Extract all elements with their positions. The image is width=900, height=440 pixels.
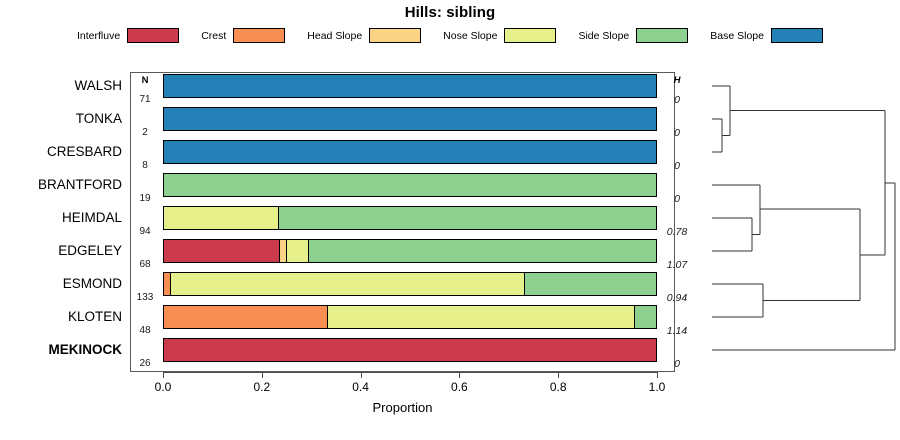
row-label-mekinock[interactable]: MEKINOCK <box>0 343 122 357</box>
x-axis-tick-label: 0.0 <box>143 380 183 394</box>
n-value: 133 <box>131 292 159 303</box>
row-label-cresbard[interactable]: CRESBARD <box>0 145 122 159</box>
row-label-kloten[interactable]: KLOTEN <box>0 310 122 324</box>
legend-item[interactable]: Base Slope <box>710 28 823 43</box>
n-value: 19 <box>131 193 159 204</box>
x-axis-title: Proportion <box>130 400 675 415</box>
x-axis-tick-label: 0.6 <box>439 380 479 394</box>
n-value: 68 <box>131 259 159 270</box>
legend: InterfluveCrestHead SlopeNose SlopeSide … <box>0 28 900 43</box>
stacked-bar-heimdal[interactable] <box>163 206 657 230</box>
bar-segment-nose-slope <box>164 207 279 229</box>
bar-segment-side-slope <box>279 207 656 229</box>
x-axis-tick-label: 0.8 <box>538 380 578 394</box>
bar-segment-head-slope <box>280 240 287 262</box>
legend-item[interactable]: Nose Slope <box>443 28 556 43</box>
stacked-bar-brantford[interactable] <box>163 173 657 197</box>
page-title: Hills: sibling <box>0 4 900 21</box>
legend-item-label: Interfluve <box>77 30 120 42</box>
bar-segment-nose-slope <box>287 240 309 262</box>
bar-segment-base-slope <box>164 75 656 97</box>
legend-swatch <box>504 28 556 43</box>
x-axis-tick <box>459 372 460 378</box>
dendrogram-svg <box>690 72 900 372</box>
x-axis-tick <box>163 372 164 378</box>
n-value: 26 <box>131 358 159 369</box>
bar-segment-base-slope <box>164 108 656 130</box>
n-column: N 71281994681334826 <box>131 72 162 372</box>
row-label-walsh[interactable]: WALSH <box>0 79 122 93</box>
x-axis-line <box>163 372 658 373</box>
stacked-bar-cresbard[interactable] <box>163 140 657 164</box>
row-label-esmond[interactable]: ESMOND <box>0 277 122 291</box>
bar-segment-side-slope <box>164 174 656 196</box>
x-axis-tick-label: 0.4 <box>341 380 381 394</box>
legend-item-label: Nose Slope <box>443 30 497 42</box>
legend-swatch <box>233 28 285 43</box>
x-axis-tick-label: 0.2 <box>242 380 282 394</box>
bar-segment-nose-slope <box>328 306 636 328</box>
stacked-bar-esmond[interactable] <box>163 272 657 296</box>
n-column-header: N <box>131 75 159 86</box>
n-value: 71 <box>131 94 159 105</box>
x-axis-tick <box>558 372 559 378</box>
bar-segment-crest <box>164 273 171 295</box>
legend-swatch <box>127 28 179 43</box>
stacked-bar-kloten[interactable] <box>163 305 657 329</box>
legend-swatch <box>369 28 421 43</box>
bar-segment-interfluve <box>164 339 656 361</box>
stacked-bar-walsh[interactable] <box>163 74 657 98</box>
x-axis-tick <box>262 372 263 378</box>
bar-segment-base-slope <box>164 141 656 163</box>
legend-item[interactable]: Head Slope <box>307 28 421 43</box>
row-label-brantford[interactable]: BRANTFORD <box>0 178 122 192</box>
legend-item-label: Base Slope <box>710 30 764 42</box>
chart-root: Hills: sibling InterfluveCrestHead Slope… <box>0 0 900 440</box>
legend-swatch <box>636 28 688 43</box>
n-value: 8 <box>131 160 159 171</box>
bar-segment-side-slope <box>635 306 656 328</box>
stacked-bar-edgeley[interactable] <box>163 239 657 263</box>
dendrogram <box>690 72 900 372</box>
legend-item-label: Crest <box>201 30 226 42</box>
bar-segment-side-slope <box>525 273 656 295</box>
n-value: 94 <box>131 226 159 237</box>
x-axis: 0.00.20.40.60.81.0 <box>130 372 675 402</box>
bar-segment-side-slope <box>309 240 656 262</box>
row-label-column: WALSHTONKACRESBARDBRANTFORDHEIMDALEDGELE… <box>0 72 126 372</box>
bar-segment-crest <box>164 306 328 328</box>
row-label-edgeley[interactable]: EDGELEY <box>0 244 122 258</box>
legend-item[interactable]: Crest <box>201 28 285 43</box>
legend-item[interactable]: Interfluve <box>77 28 179 43</box>
x-axis-tick <box>361 372 362 378</box>
legend-swatch <box>771 28 823 43</box>
bar-segment-nose-slope <box>171 273 524 295</box>
row-label-heimdal[interactable]: HEIMDAL <box>0 211 122 225</box>
stacked-bar-mekinock[interactable] <box>163 338 657 362</box>
n-value: 2 <box>131 127 159 138</box>
bar-segment-interfluve <box>164 240 280 262</box>
n-value: 48 <box>131 325 159 336</box>
stacked-bar-tonka[interactable] <box>163 107 657 131</box>
legend-item-label: Head Slope <box>307 30 362 42</box>
legend-item[interactable]: Side Slope <box>578 28 688 43</box>
legend-item-label: Side Slope <box>578 30 629 42</box>
x-axis-tick-label: 1.0 <box>637 380 677 394</box>
row-label-tonka[interactable]: TONKA <box>0 112 122 126</box>
x-axis-tick <box>657 372 658 378</box>
